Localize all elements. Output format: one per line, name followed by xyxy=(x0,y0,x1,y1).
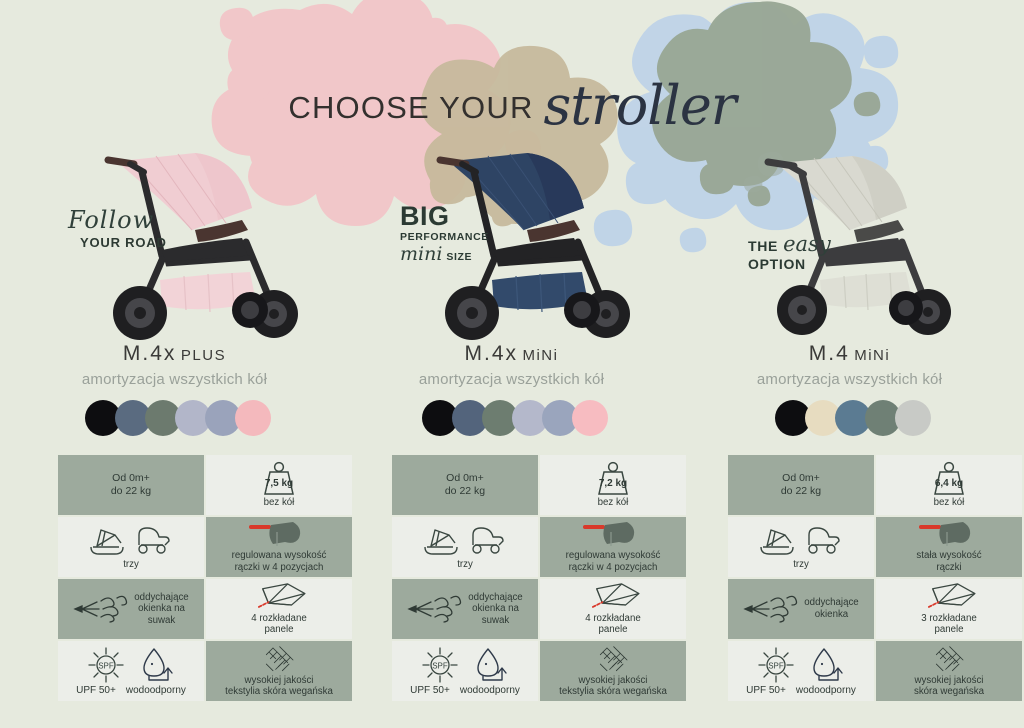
spec-cell: 6,4 kg bez kół xyxy=(876,455,1022,515)
tagline-performance-2: PERFORMANCE xyxy=(400,231,489,243)
spec-cell: trzy xyxy=(728,517,874,577)
spec-text: wysokiej jakości tekstylia skóra wegańsk… xyxy=(559,675,667,698)
airflow-icon xyxy=(73,592,129,626)
spec-table-1: Od 0m+ do 22 kg 7,5 kg bez kół trzy xyxy=(58,455,352,701)
spec-cell: 7,2 kg bez kół xyxy=(540,455,686,515)
spec-text: 4 rozkładane panele xyxy=(251,613,306,636)
spec-cell: wysokiej jakości tekstylia skóra wegańsk… xyxy=(540,641,686,701)
weave-icon xyxy=(254,644,304,675)
product-name-small-1: PLUS xyxy=(181,347,226,364)
spec-text: 4 rozkładane panele xyxy=(585,613,640,636)
panels-icon xyxy=(248,582,310,613)
tagline-product-2: BIG PERFORMANCE mini SIZE xyxy=(400,203,489,265)
color-swatch[interactable] xyxy=(895,400,931,436)
spec-cell: wysokiej jakości tekstylia skóra wegańsk… xyxy=(206,641,352,701)
spec-cell: SPF UPF 50+ wodoodporny xyxy=(392,641,538,701)
header-title-caps: CHOOSE YOUR xyxy=(288,90,533,126)
spec-text: wysokiej jakości skóra wegańska xyxy=(914,675,984,698)
tagline-product-1: Follow YOUR ROAD xyxy=(68,206,167,250)
water-drop-icon xyxy=(474,645,510,685)
seat-units-icon xyxy=(419,523,511,559)
tagline-big-2: BIG xyxy=(400,203,489,230)
spec-cell: oddychające okienka xyxy=(728,579,874,639)
spf-icon: SPF xyxy=(420,645,460,685)
tagline-product-3: THE easy OPTION xyxy=(748,232,831,272)
spec-text: oddychające okienka na suwak xyxy=(468,592,522,627)
spec-cell: Od 0m+ do 22 kg xyxy=(58,455,204,515)
weight-value: 6,4 kg xyxy=(922,478,976,489)
spec-text: bez kół xyxy=(264,497,295,509)
handle-icon xyxy=(919,520,979,550)
spec-text: oddychające okienka xyxy=(804,597,858,620)
tagline-caps-1: YOUR ROAD xyxy=(80,235,167,250)
color-swatch[interactable] xyxy=(235,400,271,436)
poster-page: CHOOSE YOUR stroller Follow YOUR ROAD xyxy=(0,0,1024,728)
spec-text: Od 0m+ do 22 kg xyxy=(781,472,821,497)
spec-cell: trzy xyxy=(58,517,204,577)
product-subtitle-2: amortyzacja wszystkich kół xyxy=(345,371,678,388)
airflow-icon xyxy=(743,592,799,626)
product-name-2: M.4x MiNi xyxy=(345,342,678,366)
spec-text: Od 0m+ do 22 kg xyxy=(445,472,485,497)
spec-text-2: wodoodporny xyxy=(126,685,186,697)
spec-text-2: wodoodporny xyxy=(796,685,856,697)
product-subtitle-1: amortyzacja wszystkich kół xyxy=(8,371,341,388)
product-subtitle-3: amortyzacja wszystkich kół xyxy=(683,371,1016,388)
water-drop-icon xyxy=(810,645,846,685)
handle-icon xyxy=(583,520,643,550)
spec-text: wysokiej jakości tekstylia skóra wegańsk… xyxy=(225,675,333,698)
handle-icon xyxy=(249,520,309,550)
product-name-big-3: M.4 xyxy=(809,342,850,365)
spec-cell: 3 rozkładane panele xyxy=(876,579,1022,639)
product-name-3: M.4 MiNi xyxy=(683,342,1016,366)
spec-cell: SPF UPF 50+ wodoodporny xyxy=(728,641,874,701)
svg-text:SPF: SPF xyxy=(432,662,448,671)
color-swatches-2 xyxy=(345,400,678,436)
spec-text: bez kół xyxy=(934,497,965,509)
spec-text-2: wodoodporny xyxy=(460,685,520,697)
spec-table-2: Od 0m+ do 22 kg 7,2 kg bez kół trzy xyxy=(392,455,686,701)
tagline-option-3: OPTION xyxy=(748,256,831,272)
product-name-big-1: M.4x xyxy=(123,342,177,365)
spec-text: stała wysokość rączki xyxy=(916,550,981,573)
color-swatches-3 xyxy=(683,400,1016,436)
tagline-script-1: Follow xyxy=(68,206,167,234)
spec-text: trzy xyxy=(793,559,809,571)
weave-icon xyxy=(588,644,638,675)
tagline-the-3: THE xyxy=(748,238,778,254)
weight-value: 7,2 kg xyxy=(586,478,640,489)
airflow-icon xyxy=(407,592,463,626)
weave-icon xyxy=(924,644,974,675)
color-swatch[interactable] xyxy=(572,400,608,436)
product-name-small-2: MiNi xyxy=(522,347,558,364)
tagline-script-3: easy xyxy=(783,232,831,256)
spec-text: trzy xyxy=(457,559,473,571)
spec-text: trzy xyxy=(123,559,139,571)
spec-cell: 7,5 kg bez kół xyxy=(206,455,352,515)
product-name-small-3: MiNi xyxy=(854,347,890,364)
page-header: CHOOSE YOUR stroller xyxy=(0,78,1024,126)
tagline-script-2: mini xyxy=(400,243,442,265)
spec-text: UPF 50+ xyxy=(76,685,116,697)
spec-cell: Od 0m+ do 22 kg xyxy=(728,455,874,515)
svg-text:SPF: SPF xyxy=(98,662,114,671)
spec-cell: oddychające okienka na suwak xyxy=(392,579,538,639)
spec-cell: wysokiej jakości skóra wegańska xyxy=(876,641,1022,701)
spec-cell: regulowana wysokość rączki w 4 pozycjach xyxy=(540,517,686,577)
spec-text: 3 rozkładane panele xyxy=(921,613,976,636)
spec-text: bez kół xyxy=(598,497,629,509)
spec-cell: SPF UPF 50+ wodoodporny xyxy=(58,641,204,701)
svg-text:SPF: SPF xyxy=(768,662,784,671)
panels-icon xyxy=(582,582,644,613)
product-name-big-2: M.4x xyxy=(465,342,519,365)
weight-value: 7,5 kg xyxy=(252,478,306,489)
spec-text: regulowana wysokość rączki w 4 pozycjach xyxy=(232,550,327,573)
spec-cell: Od 0m+ do 22 kg xyxy=(392,455,538,515)
spec-cell: trzy xyxy=(392,517,538,577)
tagline-size-2: SIZE xyxy=(446,251,472,263)
product-name-1: M.4x PLUS xyxy=(8,342,341,366)
spec-text: Od 0m+ do 22 kg xyxy=(111,472,151,497)
spf-icon: SPF xyxy=(86,645,126,685)
spec-text: UPF 50+ xyxy=(746,685,786,697)
seat-units-icon xyxy=(85,523,177,559)
spec-text: oddychające okienka na suwak xyxy=(134,592,188,627)
spec-table-3: Od 0m+ do 22 kg 6,4 kg bez kół trzy xyxy=(728,455,1022,701)
spf-icon: SPF xyxy=(756,645,796,685)
header-title-script: stroller xyxy=(544,84,736,127)
spec-text: regulowana wysokość rączki w 4 pozycjach xyxy=(566,550,661,573)
spec-cell: oddychające okienka na suwak xyxy=(58,579,204,639)
spec-cell: regulowana wysokość rączki w 4 pozycjach xyxy=(206,517,352,577)
color-swatches-1 xyxy=(8,400,341,436)
spec-cell: stała wysokość rączki xyxy=(876,517,1022,577)
seat-units-icon xyxy=(755,523,847,559)
spec-cell: 4 rozkładane panele xyxy=(206,579,352,639)
panels-icon xyxy=(918,582,980,613)
water-drop-icon xyxy=(140,645,176,685)
spec-cell: 4 rozkładane panele xyxy=(540,579,686,639)
spec-text: UPF 50+ xyxy=(410,685,450,697)
